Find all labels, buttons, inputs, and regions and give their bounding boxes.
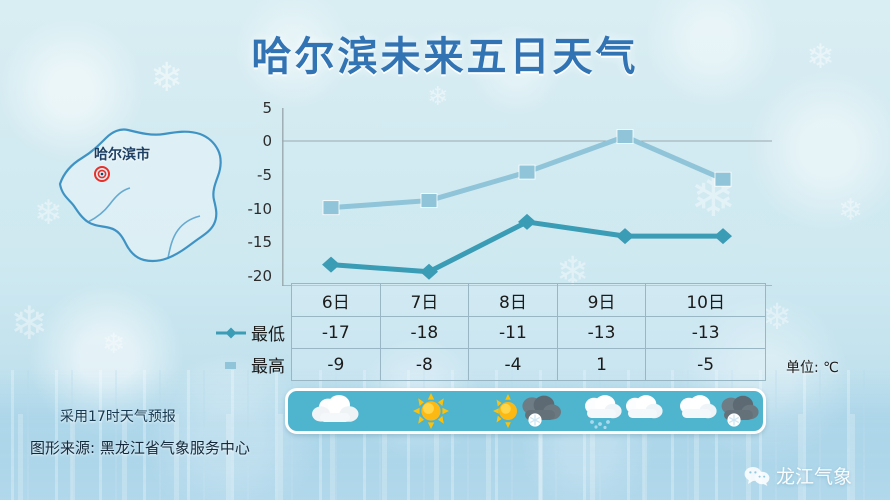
map-outline-icon: [48, 112, 238, 277]
table-row-low: 最低 -17 -18 -11 -13 -13: [200, 317, 766, 349]
table-cell-high: -8: [380, 349, 469, 381]
chart-svg: [282, 96, 772, 286]
snowflake-icon: ❄: [102, 330, 125, 358]
page-title: 哈尔滨未来五日天气: [0, 24, 890, 82]
snow-to-cloudy-icon: [578, 393, 664, 429]
table-header-date: 8日: [469, 284, 558, 317]
unit-note: 单位: ℃: [786, 357, 839, 377]
weather-icon-cell-0: [288, 394, 383, 428]
weather-icon-cell-2: [478, 393, 573, 429]
cloudy-icon: [308, 394, 364, 428]
y-tick: -5: [257, 166, 272, 184]
legend-low-label: 最低: [251, 325, 285, 345]
weather-infographic: ❄ ❄ ❄ ❄ ❄ ❄ ❄ ❄ ❄ ❄ 哈尔滨未来五日天气 哈尔滨市 5 0 -…: [0, 0, 890, 500]
legend-low: 最低: [200, 317, 292, 349]
legend-diamond-icon: [216, 325, 246, 345]
weather-icon-strip: [285, 388, 766, 434]
table-cell-high: 1: [557, 349, 646, 381]
table-cell-low: -13: [557, 317, 646, 349]
table-cell-low: -18: [380, 317, 469, 349]
series-low: [322, 214, 732, 280]
y-tick: -10: [248, 200, 273, 218]
table-cell-low: -13: [646, 317, 766, 349]
harbin-map: 哈尔滨市: [48, 112, 238, 277]
chart-plot-area: [282, 96, 772, 286]
legend-high-label: 最高: [251, 357, 285, 377]
forecast-table: 6日 7日 8日 9日 10日 最低 -17 -18 -11 -13 -13: [200, 283, 766, 381]
table-header-date: 6日: [292, 284, 381, 317]
series-high: [323, 129, 731, 214]
table-header-date: 7日: [380, 284, 469, 317]
cloudy-to-snow-icon: [673, 393, 759, 429]
table-cell-high: -5: [646, 349, 766, 381]
snowflake-icon: ❄: [838, 196, 863, 226]
weather-icon-cell-1: [383, 393, 478, 429]
table-cell-low: -11: [469, 317, 558, 349]
map-city-label: 哈尔滨市: [94, 144, 150, 164]
source-note: 图形来源: 黑龙江省气象服务中心: [30, 437, 250, 458]
legend-high: 最高: [200, 349, 292, 381]
y-tick: 0: [262, 132, 272, 150]
weather-icon-cell-4: [668, 393, 763, 429]
legend-square-icon: [216, 357, 246, 377]
city-marker-icon: [94, 166, 110, 182]
y-tick: -15: [248, 233, 273, 251]
table-cell-high: -9: [292, 349, 381, 381]
y-axis-labels: 5 0 -5 -10 -15 -20: [232, 96, 276, 286]
sunny-to-snow-icon: [488, 393, 564, 429]
watermark-label: 龙江气象: [776, 462, 852, 489]
table-cell-low: -17: [292, 317, 381, 349]
snowflake-icon: ❄: [10, 300, 49, 346]
sunny-icon: [408, 393, 454, 429]
y-tick: 5: [262, 99, 272, 117]
snowflake-icon: ❄: [762, 300, 792, 336]
legend-spacer: [200, 284, 292, 317]
table-header-date: 10日: [646, 284, 766, 317]
watermark: 龙江气象: [744, 462, 852, 489]
temperature-chart: 5 0 -5 -10 -15 -20: [232, 96, 772, 286]
forecast-time-note: 采用17时天气预报: [60, 406, 176, 426]
table-header-date: 9日: [557, 284, 646, 317]
wechat-icon: [744, 466, 770, 486]
table-row-dates: 6日 7日 8日 9日 10日: [200, 284, 766, 317]
table-cell-high: -4: [469, 349, 558, 381]
weather-icon-cell-3: [573, 393, 668, 429]
table-row-high: 最高 -9 -8 -4 1 -5: [200, 349, 766, 381]
